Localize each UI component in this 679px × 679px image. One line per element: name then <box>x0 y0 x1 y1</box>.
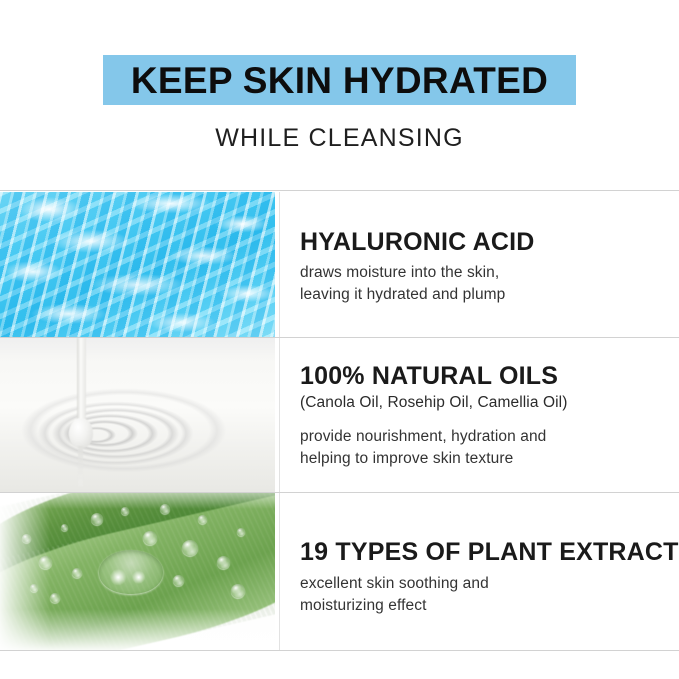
milk-ripple-texture <box>0 338 275 492</box>
page-subtitle: WHILE CLEANSING <box>0 124 679 153</box>
water-droplet <box>72 568 82 578</box>
feature-row-plant-extract: 19 TYPES OF PLANT EXTRACT excellent skin… <box>0 493 679 650</box>
water-droplet <box>231 584 245 598</box>
water-droplet <box>61 524 68 531</box>
water-droplet <box>198 515 207 524</box>
feature-heading-3: 19 TYPES OF PLANT EXTRACT <box>300 538 679 567</box>
divider-bottom <box>0 650 679 651</box>
water-texture <box>0 192 275 337</box>
feature-row-natural-oils: 100% NATURAL OILS (Canola Oil, Rosehip O… <box>0 338 679 492</box>
feature-description-3: excellent skin soothing and moisturizing… <box>300 573 489 617</box>
feature-description-2-line-1: provide nourishment, hydration and <box>300 426 546 448</box>
feature-description-2: provide nourishment, hydration and helpi… <box>300 426 546 470</box>
feature-parenthetical-2: (Canola Oil, Rosehip Oil, Camellia Oil) <box>300 394 567 412</box>
water-droplet <box>143 531 157 545</box>
feature-description-1-line-1: draws moisture into the skin, <box>300 262 505 284</box>
feature-description-3-line-1: excellent skin soothing and <box>300 573 489 595</box>
feature-row-hyaluronic-acid: HYALURONIC ACID draws moisture into the … <box>0 192 679 337</box>
feature-row-1-body: HYALURONIC ACID draws moisture into the … <box>300 192 679 337</box>
green-leaf-image <box>0 493 275 650</box>
feature-heading-1: HYALURONIC ACID <box>300 228 535 257</box>
feature-description-1: draws moisture into the skin, leaving it… <box>300 262 505 306</box>
feature-description-2-line-2: helping to improve skin texture <box>300 448 546 470</box>
infographic-page: KEEP SKIN HYDRATED WHILE CLEANSING HYALU… <box>0 0 679 679</box>
large-water-droplet <box>99 550 163 594</box>
milk-pour-image <box>0 338 275 492</box>
milk-droplet <box>69 418 93 448</box>
water-droplet <box>217 556 230 569</box>
water-droplet <box>237 528 245 536</box>
feature-description-1-line-2: leaving it hydrated and plump <box>300 284 505 306</box>
water-droplet <box>173 575 184 586</box>
divider-top <box>0 190 679 191</box>
feature-heading-2: 100% NATURAL OILS <box>300 362 558 391</box>
feature-row-3-body: 19 TYPES OF PLANT EXTRACT excellent skin… <box>300 493 679 650</box>
page-title: KEEP SKIN HYDRATED <box>131 62 548 99</box>
water-droplet <box>50 593 60 603</box>
title-banner: KEEP SKIN HYDRATED <box>103 55 576 105</box>
milk-droplet-tail <box>78 446 83 486</box>
feature-row-2-body: 100% NATURAL OILS (Canola Oil, Rosehip O… <box>300 338 679 492</box>
feature-description-3-line-2: moisturizing effect <box>300 595 489 617</box>
leaf-fade-bottom <box>0 609 275 650</box>
header: KEEP SKIN HYDRATED WHILE CLEANSING <box>0 0 679 190</box>
water-surface-image <box>0 192 275 337</box>
water-droplet <box>182 540 198 556</box>
